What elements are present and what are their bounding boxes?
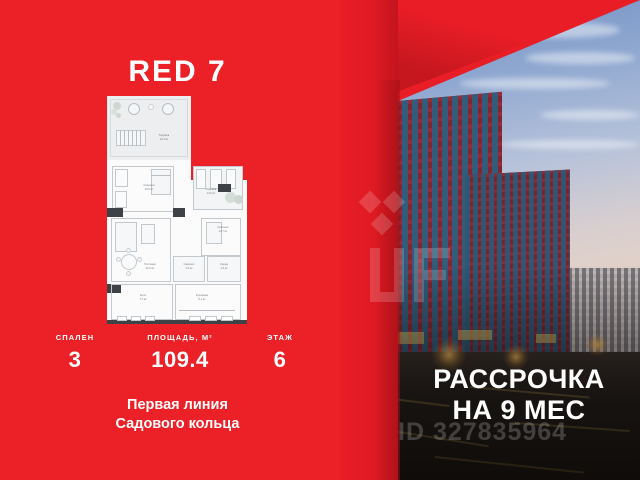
structural-column [173, 208, 185, 217]
deck-line [120, 130, 121, 146]
counter-line [179, 310, 235, 311]
plant-icon [116, 113, 121, 118]
furniture-icon [141, 224, 155, 244]
stat-area: ПЛОЩАДЬ, М² 109.4 [120, 333, 240, 373]
structural-column [218, 184, 231, 192]
window-icon [189, 316, 201, 321]
chair-icon [126, 248, 131, 253]
window-icon [205, 316, 217, 321]
wardrobe-icon [115, 169, 128, 187]
room-label: Терраса19.3 м² [147, 134, 181, 141]
window-icon [131, 316, 141, 321]
room-label: Сауна4.5 м² [210, 263, 238, 270]
room-label: Санузел4.9 м² [175, 263, 203, 270]
round-table-icon [162, 103, 174, 115]
room-label: Спальня15.0 м² [133, 184, 165, 191]
chair-icon [116, 257, 121, 262]
tagline-line-2: Садового кольца [0, 415, 355, 434]
stat-bedrooms-caption: СПАЛЕН [40, 333, 110, 342]
deck-line [132, 130, 133, 146]
stat-floor: ЭТАЖ 6 [245, 333, 315, 373]
window-icon [221, 316, 233, 321]
deck-line [128, 130, 129, 146]
deck-line [124, 130, 125, 146]
round-table-icon [148, 104, 154, 110]
promo-banner: РАССРОЧКА НА 9 МЕС [398, 364, 640, 425]
furniture-icon [115, 191, 127, 208]
left-info-panel: RED 7 Терраса19.3 м² [0, 0, 355, 480]
window-icon [117, 316, 127, 321]
floorplan-diagram: Терраса19.3 м² Спальня15.0 м² Терраса13.… [107, 96, 247, 324]
stat-bedrooms-value: 3 [40, 347, 110, 373]
chair-icon [126, 271, 131, 276]
apartment-stats: СПАЛЕН 3 ПЛОЩАДЬ, М² 109.4 ЭТАЖ 6 [0, 333, 355, 383]
stat-area-value: 109.4 [120, 347, 240, 373]
promo-line-1: РАССРОЧКА [398, 364, 640, 395]
bed-line [151, 175, 171, 176]
location-tagline: Первая линия Садового кольца [0, 396, 355, 435]
deck-line [140, 130, 141, 146]
advertisement-card: RED 7 Терраса19.3 м² [0, 0, 640, 480]
building-photo-panel: РАССРОЧКА НА 9 МЕС ID 327835964 [340, 0, 640, 480]
watermark-logo-icon [352, 190, 462, 320]
room-label: Холл7.2 м² [129, 294, 157, 301]
page-title: RED 7 [0, 55, 355, 89]
stat-area-caption: ПЛОЩАДЬ, М² [120, 333, 240, 342]
structural-column [107, 208, 123, 217]
room-label: Гостиная32.0 м² [133, 263, 167, 270]
room-label: Кухонная8.1 м² [185, 294, 219, 301]
round-table-icon [128, 103, 140, 115]
deck-line [136, 130, 137, 146]
plant-icon [234, 195, 243, 204]
tagline-line-1: Первая линия [0, 396, 355, 415]
window-icon [145, 316, 155, 321]
chair-icon [137, 257, 142, 262]
terrace-furniture [196, 169, 206, 189]
watermark-listing-id: ID 327835964 [398, 418, 640, 447]
room-hall [111, 284, 173, 320]
bed-icon [151, 169, 171, 195]
room-label: Спальня14.7 м² [207, 226, 239, 233]
stat-floor-caption: ЭТАЖ [245, 333, 315, 342]
stat-bedrooms: СПАЛЕН 3 [40, 333, 110, 373]
stat-floor-value: 6 [245, 347, 315, 373]
room-kitchen [175, 284, 241, 320]
